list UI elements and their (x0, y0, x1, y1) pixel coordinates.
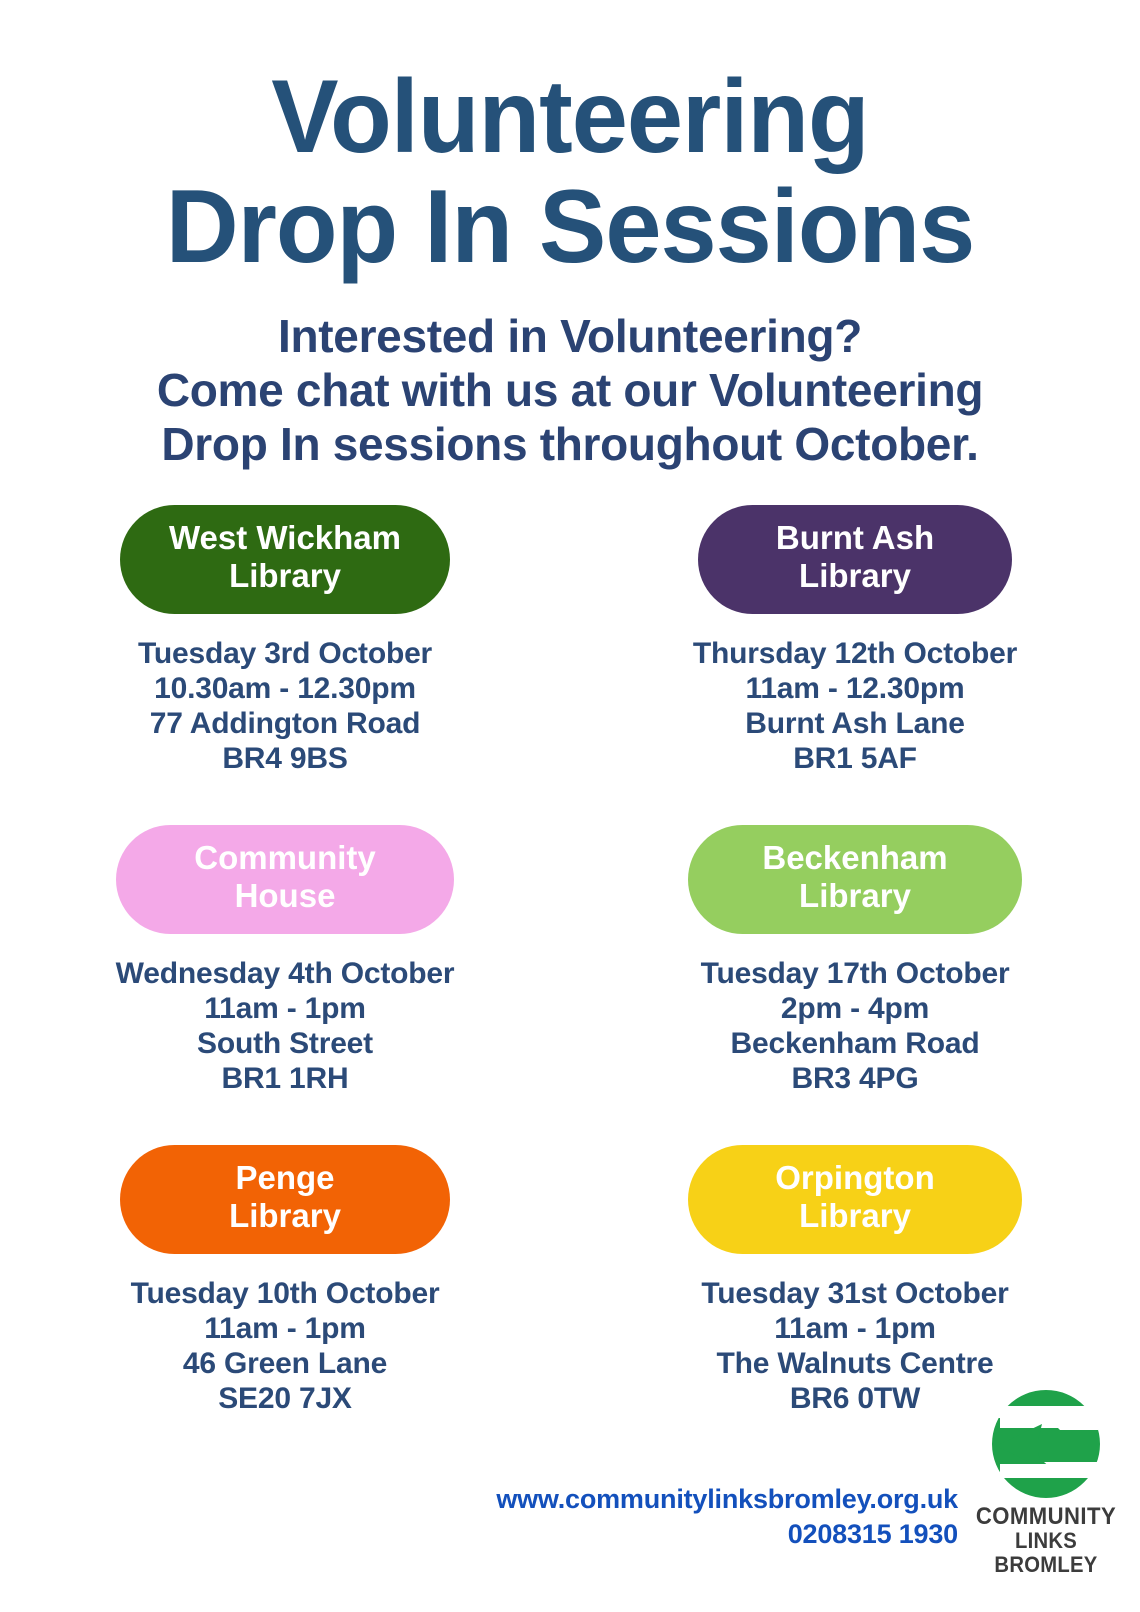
venue-name-line-2: Library (229, 557, 341, 594)
session-address: Burnt Ash Lane (693, 706, 1017, 741)
logo-wordmark-top: COMMUNITY (969, 1504, 1124, 1529)
poster-canvas: Volunteering Drop In Sessions Interested… (0, 0, 1140, 1612)
logo-wordmark-bottom: LINKS BROMLEY (969, 1529, 1124, 1576)
venue-name-line-1: Burnt Ash (776, 519, 934, 556)
session-address: 77 Addington Road (138, 706, 432, 741)
session-postcode: BR4 9BS (138, 741, 432, 776)
subtitle-line-3: Drop In sessions throughout October. (0, 418, 1140, 472)
session-postcode: BR1 5AF (693, 741, 1017, 776)
sessions-row-1: West Wickham Library Tuesday 3rd October… (0, 505, 1140, 825)
subtitle-line-2: Come chat with us at our Volunteering (0, 364, 1140, 418)
session-card-burnt-ash-library: Burnt Ash Library Thursday 12th October … (570, 505, 1140, 825)
venue-name-line-1: Orpington (775, 1159, 934, 1196)
session-details: Tuesday 3rd October 10.30am - 12.30pm 77… (138, 636, 432, 776)
title-line-2: Drop In Sessions (17, 172, 1123, 282)
session-time: 10.30am - 12.30pm (138, 671, 432, 706)
organisation-logo: COMMUNITY LINKS BROMLEY (962, 1384, 1130, 1576)
sessions-grid: West Wickham Library Tuesday 3rd October… (0, 505, 1140, 1465)
venue-pill-west-wickham-library: West Wickham Library (120, 505, 450, 614)
venue-pill-community-house: Community House (116, 825, 454, 934)
session-time: 11am - 12.30pm (693, 671, 1017, 706)
session-card-penge-library: Penge Library Tuesday 10th October 11am … (0, 1145, 570, 1465)
title-line-1: Volunteering (17, 62, 1123, 172)
session-address: 46 Green Lane (131, 1346, 440, 1381)
venue-name-line-2: House (235, 877, 336, 914)
session-postcode: SE20 7JX (131, 1381, 440, 1416)
phone-number[interactable]: 0208315 1930 (496, 1517, 958, 1552)
venue-pill-burnt-ash-library: Burnt Ash Library (698, 505, 1012, 614)
venue-name-line-2: Library (799, 1197, 911, 1234)
session-details: Tuesday 17th October 2pm - 4pm Beckenham… (701, 956, 1010, 1096)
session-details: Thursday 12th October 11am - 12.30pm Bur… (693, 636, 1017, 776)
website-link[interactable]: www.communitylinksbromley.org.uk (496, 1482, 958, 1517)
poster-footer: www.communitylinksbromley.org.uk 0208315… (0, 1470, 1140, 1612)
session-time: 11am - 1pm (131, 1311, 440, 1346)
sessions-row-2: Community House Wednesday 4th October 11… (0, 825, 1140, 1145)
session-date: Tuesday 17th October (701, 956, 1010, 991)
session-card-beckenham-library: Beckenham Library Tuesday 17th October 2… (570, 825, 1140, 1145)
session-date: Tuesday 10th October (131, 1276, 440, 1311)
venue-name-line-2: Library (229, 1197, 341, 1234)
venue-name-line-2: Library (799, 877, 911, 914)
venue-name-line-1: Community (194, 839, 376, 876)
session-date: Wednesday 4th October (116, 956, 455, 991)
session-details: Wednesday 4th October 11am - 1pm South S… (116, 956, 455, 1096)
contact-details: www.communitylinksbromley.org.uk 0208315… (496, 1482, 958, 1551)
session-time: 11am - 1pm (116, 991, 455, 1026)
session-address: South Street (116, 1026, 455, 1061)
venue-pill-beckenham-library: Beckenham Library (688, 825, 1022, 934)
venue-pill-penge-library: Penge Library (120, 1145, 450, 1254)
session-address: The Walnuts Centre (701, 1346, 1008, 1381)
venue-name-line-1: Penge (235, 1159, 334, 1196)
session-date: Thursday 12th October (693, 636, 1017, 671)
session-date: Tuesday 31st October (701, 1276, 1008, 1311)
venue-name-line-1: Beckenham (762, 839, 947, 876)
subtitle-line-1: Interested in Volunteering? (0, 310, 1140, 364)
session-time: 11am - 1pm (701, 1311, 1008, 1346)
venue-name-line-2: Library (799, 557, 911, 594)
session-card-community-house: Community House Wednesday 4th October 11… (0, 825, 570, 1145)
venue-name-line-1: West Wickham (169, 519, 401, 556)
session-card-west-wickham-library: West Wickham Library Tuesday 3rd October… (0, 505, 570, 825)
session-postcode: BR1 1RH (116, 1061, 455, 1096)
session-details: Tuesday 10th October 11am - 1pm 46 Green… (131, 1276, 440, 1416)
poster-subtitle: Interested in Volunteering? Come chat wi… (0, 310, 1140, 471)
poster-title: Volunteering Drop In Sessions (0, 62, 1140, 282)
venue-pill-orpington-library: Orpington Library (688, 1145, 1022, 1254)
session-postcode: BR3 4PG (701, 1061, 1010, 1096)
session-date: Tuesday 3rd October (138, 636, 432, 671)
community-links-bromley-logo-icon (986, 1384, 1106, 1504)
session-address: Beckenham Road (701, 1026, 1010, 1061)
session-time: 2pm - 4pm (701, 991, 1010, 1026)
